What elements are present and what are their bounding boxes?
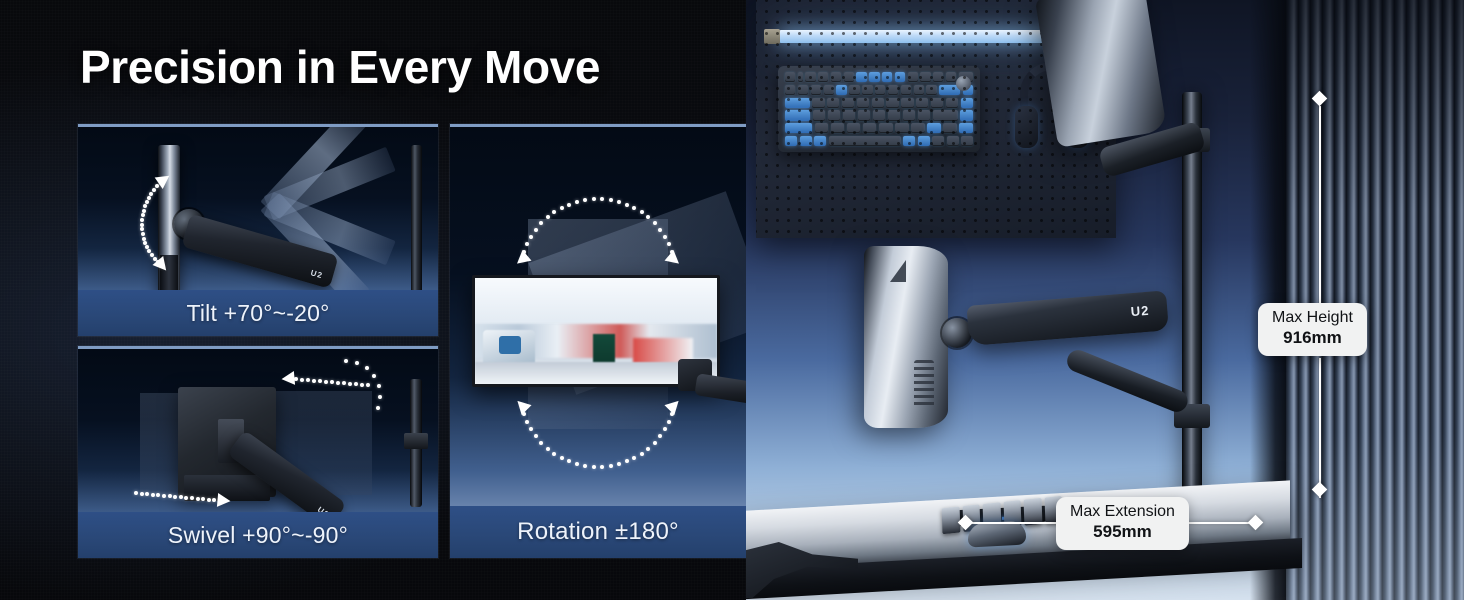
keyboard-knob [956, 76, 971, 91]
callout-max-extension-title: Max Extension [1070, 503, 1175, 522]
page-title: Precision in Every Move [80, 40, 600, 94]
slat-wall [1286, 0, 1464, 600]
promo-banner: Precision in Every Move U2 Tilt +70°~-20… [0, 0, 1464, 600]
led-light-bar [778, 30, 1074, 43]
panel-caption-tilt: Tilt +70°~-20° [78, 290, 438, 336]
callout-max-extension-value: 595mm [1070, 522, 1175, 542]
max-extension-line-left [972, 522, 1062, 524]
max-height-line-lower [1319, 358, 1321, 498]
u2-logo: U2 [310, 268, 324, 280]
feature-panel-tilt: U2 Tilt +70°~-20° [78, 124, 438, 336]
callout-max-height-value: 916mm [1272, 328, 1353, 348]
callout-max-extension: Max Extension 595mm [1056, 497, 1189, 550]
max-extension-line-right [1180, 522, 1256, 524]
panel-caption-rotation: Rotation ±180° [450, 506, 746, 558]
panel-caption-swivel: Swivel +90°~-90° [78, 512, 438, 558]
mount-pole [411, 145, 422, 295]
pole-clamp [404, 433, 428, 449]
callout-max-height: Max Height 916mm [1258, 303, 1367, 356]
mount-pole [1182, 92, 1202, 522]
u2-logo: U2 [1130, 303, 1150, 319]
max-height-line-upper [1319, 106, 1321, 308]
feature-panel-swivel: U2 Swivel +90°~-90° [78, 346, 438, 558]
callout-max-height-title: Max Height [1272, 309, 1353, 328]
main-monitor [864, 246, 948, 428]
feature-panel-rotation: Rotation ±180° [450, 124, 746, 558]
desk-mouse [968, 520, 1026, 547]
mounted-keyboard [778, 66, 980, 152]
